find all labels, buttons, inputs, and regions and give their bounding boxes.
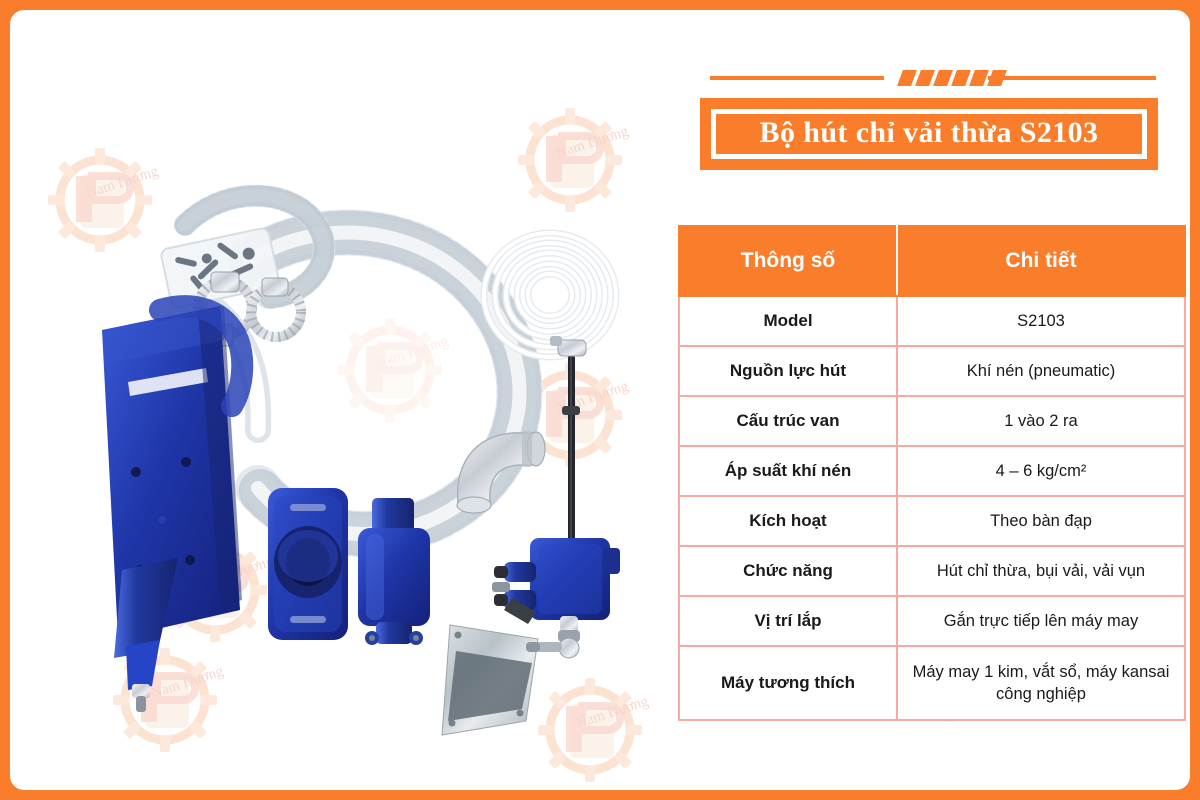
row-param: Áp suất khí nén xyxy=(679,446,897,496)
row-param: Chức năng xyxy=(679,546,897,596)
deco-slash xyxy=(969,70,989,86)
product-photo xyxy=(10,10,670,790)
title-decoration xyxy=(688,70,1172,86)
spec-table-head: Thông số Chi tiết xyxy=(679,226,1185,296)
table-row: Máy tương thích Máy may 1 kim, vắt sổ, m… xyxy=(679,646,1185,720)
row-param: Cấu trúc van xyxy=(679,396,897,446)
table-row: Nguồn lực hút Khí nén (pneumatic) xyxy=(679,346,1185,396)
column-header-detail: Chi tiết xyxy=(897,226,1185,296)
deco-bar-right xyxy=(988,76,1156,80)
row-detail: 4 – 6 kg/cm² xyxy=(897,446,1185,496)
spec-table-body: Model S2103 Nguồn lực hút Khí nén (pneum… xyxy=(679,296,1185,720)
table-row: Áp suất khí nén 4 – 6 kg/cm² xyxy=(679,446,1185,496)
poster-page: Nam Dương xyxy=(0,0,1200,800)
table-row: Chức năng Hút chỉ thừa, bụi vải, vải vụn xyxy=(679,546,1185,596)
info-panel: Bộ hút chỉ vải thừa S2103 Thông số Chi t… xyxy=(670,10,1190,790)
page-title: Bộ hút chỉ vải thừa S2103 xyxy=(760,118,1099,151)
deco-slash xyxy=(915,70,935,86)
deco-slash xyxy=(897,70,917,86)
table-row: Kích hoạt Theo bàn đạp xyxy=(679,496,1185,546)
product-photo-image xyxy=(10,10,670,790)
title-plaque-inner: Bộ hút chỉ vải thừa S2103 xyxy=(711,109,1147,159)
deco-slash xyxy=(933,70,953,86)
spec-table: Thông số Chi tiết Model S2103 Nguồn lực … xyxy=(678,225,1186,721)
row-detail: Theo bàn đạp xyxy=(897,496,1185,546)
table-row: Vị trí lắp Gắn trực tiếp lên máy may xyxy=(679,596,1185,646)
row-param: Model xyxy=(679,296,897,346)
deco-slash xyxy=(951,70,971,86)
row-param: Kích hoạt xyxy=(679,496,897,546)
row-param: Nguồn lực hút xyxy=(679,346,897,396)
poster-canvas: Nam Dương xyxy=(10,10,1190,790)
row-param: Vị trí lắp xyxy=(679,596,897,646)
column-header-param: Thông số xyxy=(679,226,897,296)
row-detail: S2103 xyxy=(897,296,1185,346)
row-detail: Gắn trực tiếp lên máy may xyxy=(897,596,1185,646)
row-detail: Hút chỉ thừa, bụi vải, vải vụn xyxy=(897,546,1185,596)
deco-bar-left xyxy=(710,76,884,80)
table-row: Cấu trúc van 1 vào 2 ra xyxy=(679,396,1185,446)
table-header-row: Thông số Chi tiết xyxy=(679,226,1185,296)
row-detail: Khí nén (pneumatic) xyxy=(897,346,1185,396)
table-row: Model S2103 xyxy=(679,296,1185,346)
row-detail: 1 vào 2 ra xyxy=(897,396,1185,446)
title-plaque: Bộ hút chỉ vải thừa S2103 xyxy=(700,98,1158,170)
row-param: Máy tương thích xyxy=(679,646,897,720)
row-detail: Máy may 1 kim, vắt sổ, máy kansai công n… xyxy=(897,646,1185,720)
